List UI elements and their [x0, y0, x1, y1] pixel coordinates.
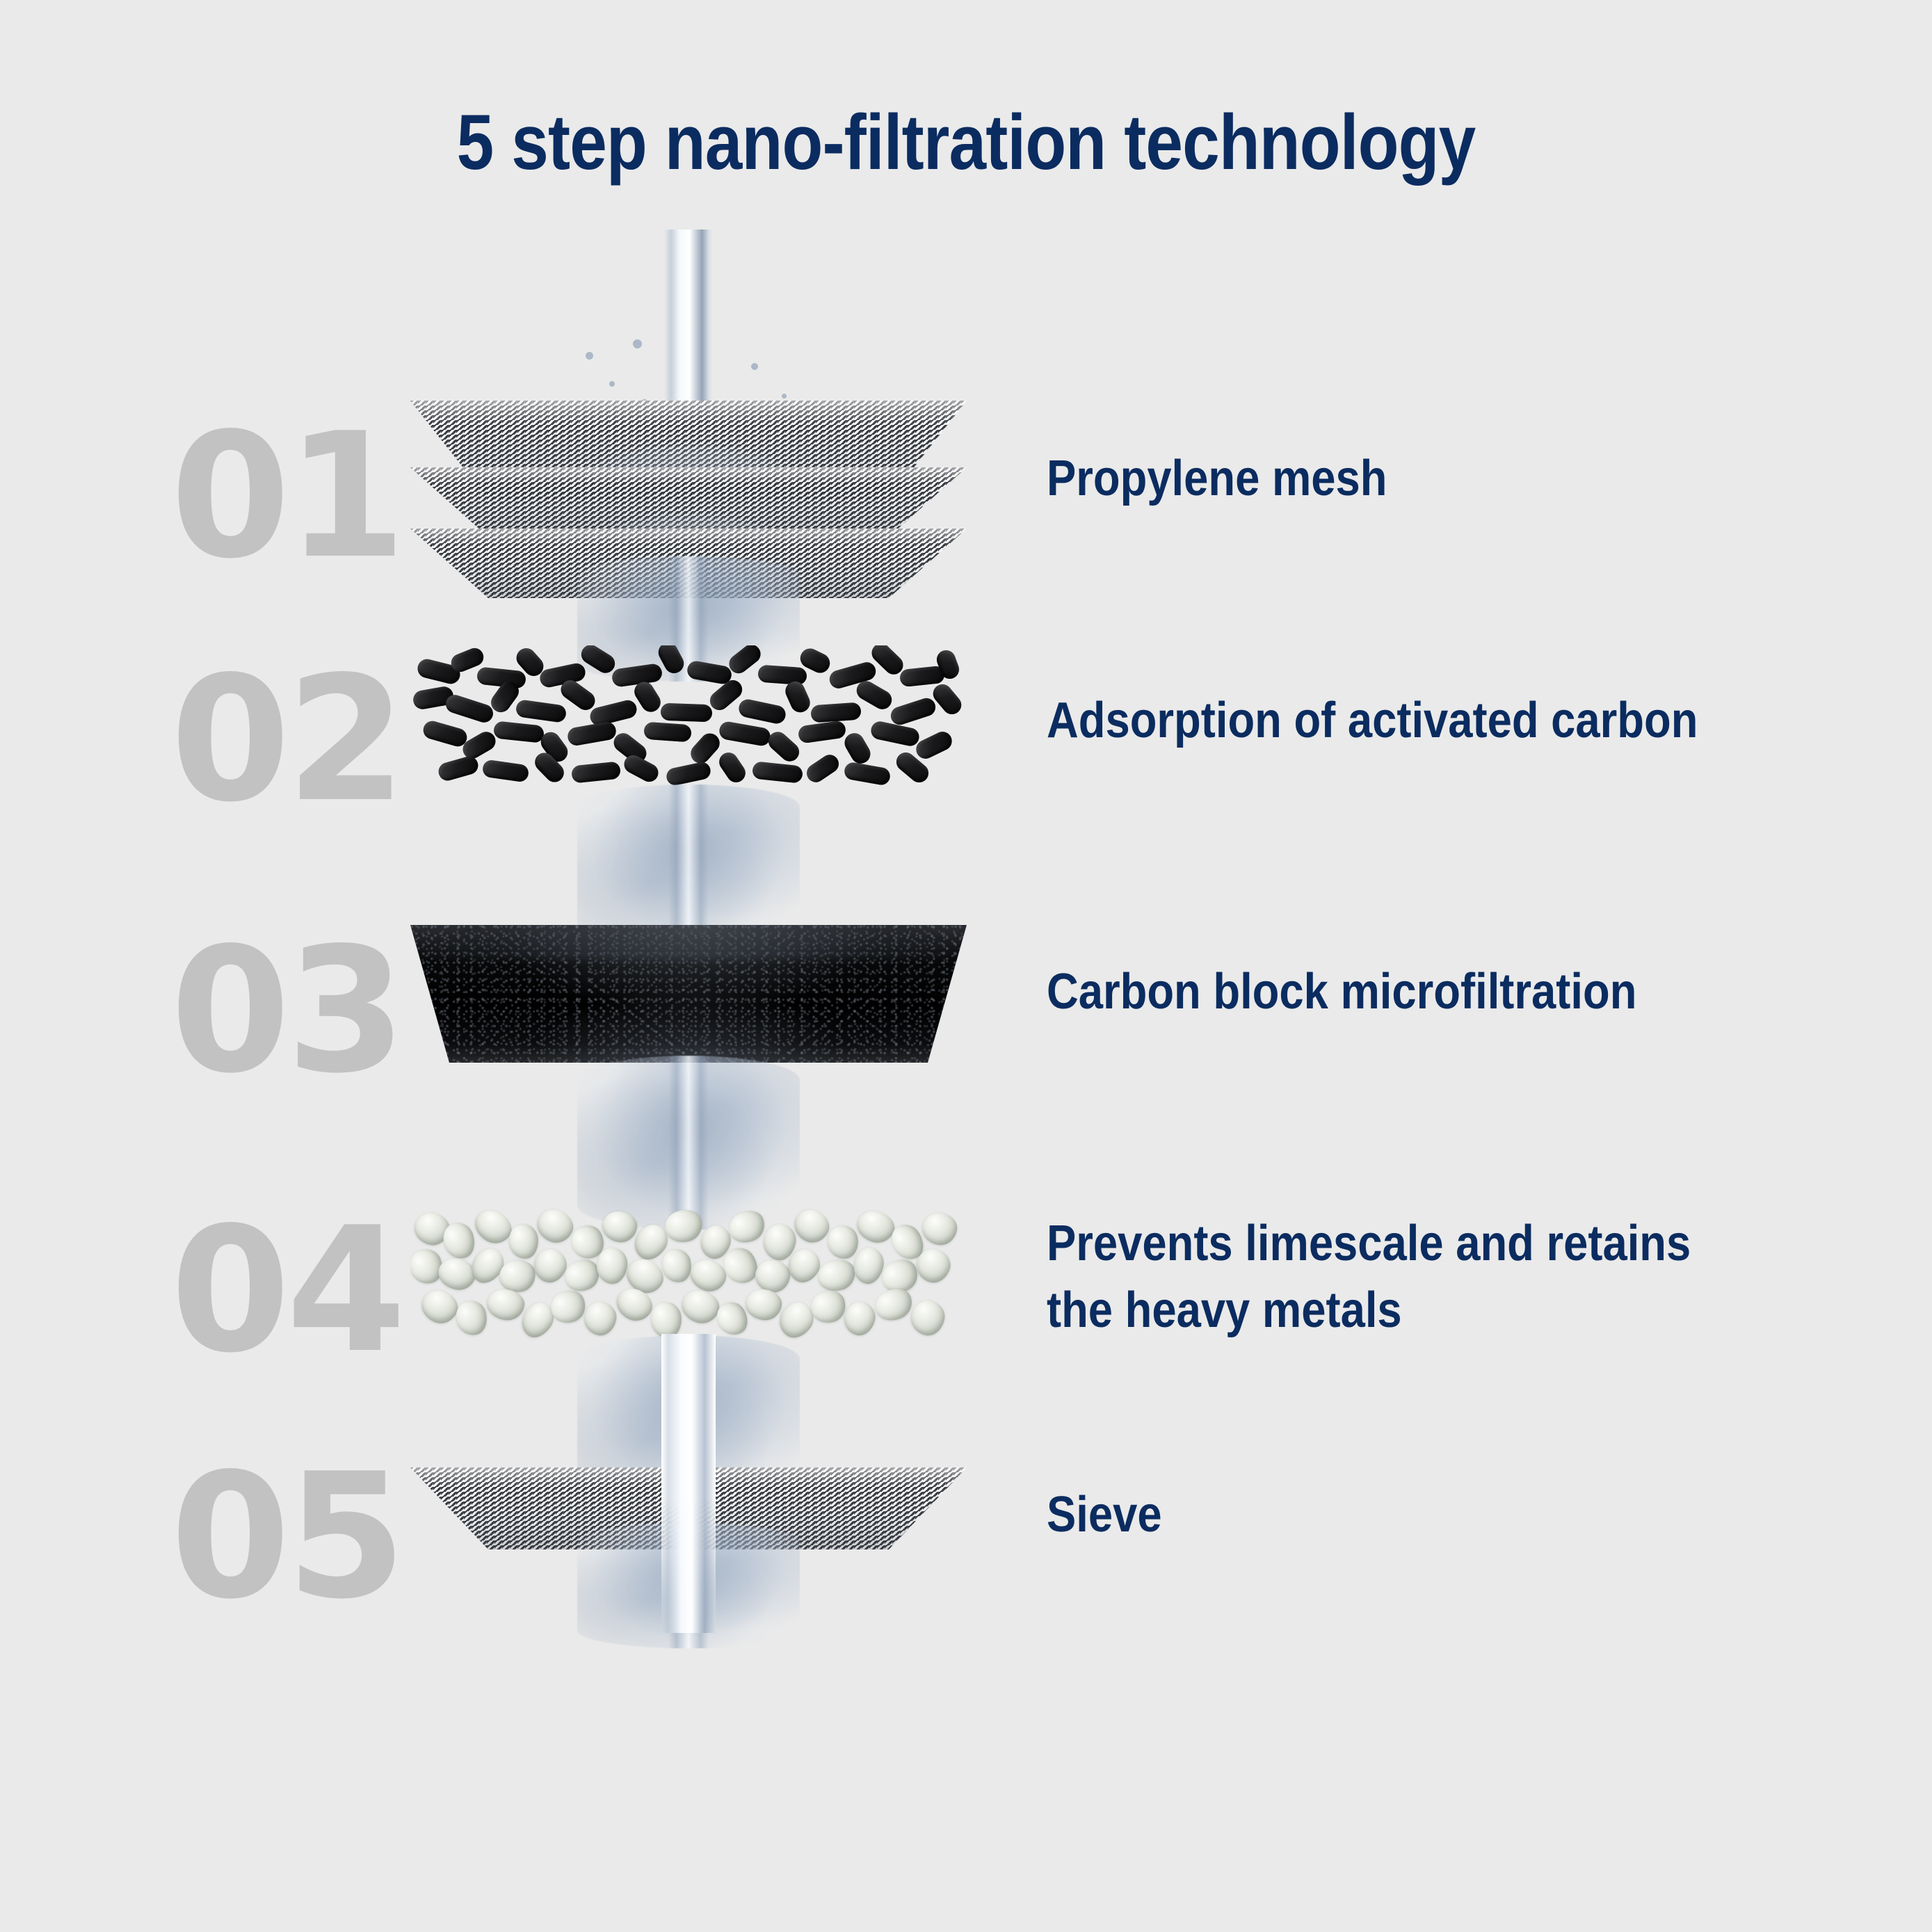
filtration-diagram [389, 0, 988, 1932]
step-number-04: 04 [170, 1205, 469, 1377]
mineral-granule-bed [410, 1206, 967, 1342]
mesh-sheet-bottom [410, 529, 967, 598]
step-label-01: Propylene mesh [1047, 445, 1750, 512]
activated-carbon-bed [410, 645, 967, 791]
step-label-04-line-2: the heavy metals [1047, 1277, 1750, 1344]
step-label-02: Adsorption of activated carbon [1047, 687, 1750, 754]
step-label-05: Sieve [1047, 1481, 1750, 1548]
step-label-04: Prevents limescale and retains the heavy… [1047, 1210, 1750, 1344]
water-turbulence-03-04 [577, 1056, 800, 1230]
step-label-04-line-1: Prevents limescale and retains [1047, 1210, 1750, 1277]
water-turbulence-02-03 [577, 784, 800, 944]
water-inflow-stream [664, 230, 713, 424]
carbon-block-disc [410, 925, 967, 1063]
step-number-05: 05 [170, 1451, 469, 1623]
step-number-02: 02 [170, 654, 469, 826]
step-number-03: 03 [170, 925, 469, 1097]
mesh-sheet-middle [410, 467, 967, 537]
step-number-01: 01 [170, 410, 469, 583]
sieve-mesh-plate [410, 1467, 967, 1549]
step-label-03: Carbon block microfiltration [1047, 958, 1750, 1025]
